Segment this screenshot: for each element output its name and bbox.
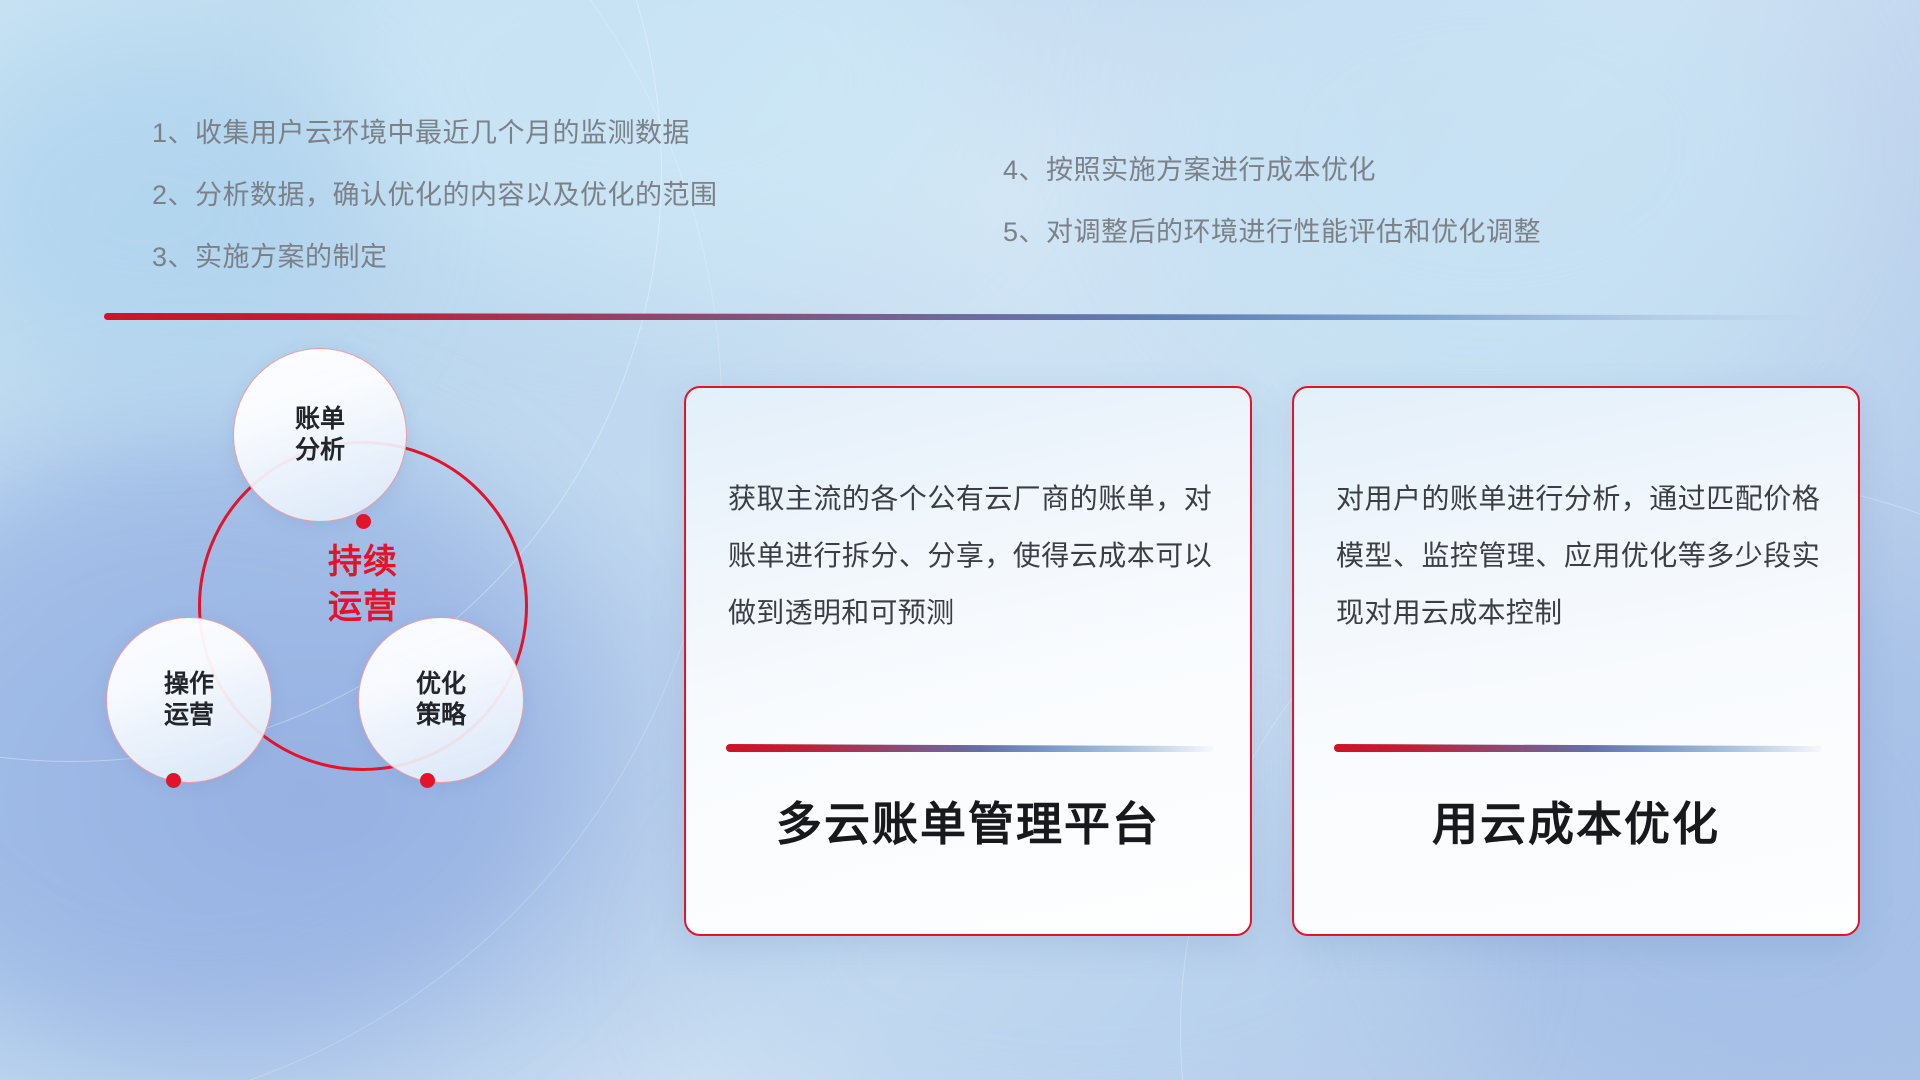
cycle-node-label-line1: 账单 [295, 404, 345, 436]
slide-canvas: 1、收集用户云环境中最近几个月的监测数据 2、分析数据，确认优化的内容以及优化的… [0, 0, 1920, 1080]
cycle-center-label-line1: 持续 [268, 540, 458, 585]
steps-list-left: 1、收集用户云环境中最近几个月的监测数据 2、分析数据，确认优化的内容以及优化的… [152, 120, 718, 271]
card-divider [726, 744, 1214, 752]
cycle-node-operations[interactable]: 操作 运营 [106, 617, 272, 783]
cycle-node-label-line1: 操作 [164, 669, 214, 701]
cycle-center-label-line2: 运营 [268, 585, 458, 630]
card-divider [1334, 744, 1822, 752]
step-item: 1、收集用户云环境中最近几个月的监测数据 [152, 120, 718, 147]
cycle-diagram: 账单 分析 操作 运营 优化 策略 持续 运营 [100, 350, 620, 950]
step-item: 4、按照实施方案进行成本优化 [1003, 157, 1541, 184]
feature-card-cost-optimization[interactable]: 对用户的账单进行分析，通过匹配价格模型、监控管理、应用优化等多少段实现对用云成本… [1292, 386, 1860, 936]
cycle-node-label-line2: 分析 [295, 435, 345, 467]
cycle-node-bill-analysis[interactable]: 账单 分析 [233, 348, 407, 522]
cycle-dot-icon [356, 514, 371, 529]
cycle-center-label: 持续 运营 [268, 540, 458, 630]
card-description: 对用户的账单进行分析，通过匹配价格模型、监控管理、应用优化等多少段实现对用云成本… [1336, 470, 1820, 641]
cycle-dot-icon [166, 773, 181, 788]
step-item: 2、分析数据，确认优化的内容以及优化的范围 [152, 182, 718, 209]
feature-card-multicloud-billing[interactable]: 获取主流的各个公有云厂商的账单，对账单进行拆分、分享，使得云成本可以做到透明和可… [684, 386, 1252, 936]
card-title: 多云账单管理平台 [686, 788, 1250, 854]
card-title: 用云成本优化 [1294, 788, 1858, 854]
section-divider [104, 313, 1838, 320]
cycle-node-label-line2: 运营 [164, 700, 214, 732]
cycle-dot-icon [420, 773, 435, 788]
cycle-node-label-line2: 策略 [416, 700, 466, 732]
step-item: 5、对调整后的环境进行性能评估和优化调整 [1003, 219, 1541, 246]
step-item: 3、实施方案的制定 [152, 244, 718, 271]
card-description: 获取主流的各个公有云厂商的账单，对账单进行拆分、分享，使得云成本可以做到透明和可… [728, 470, 1212, 641]
steps-list-right: 4、按照实施方案进行成本优化 5、对调整后的环境进行性能评估和优化调整 [1003, 157, 1541, 246]
cycle-node-label-line1: 优化 [416, 669, 466, 701]
cycle-node-optimization-strategy[interactable]: 优化 策略 [358, 617, 524, 783]
